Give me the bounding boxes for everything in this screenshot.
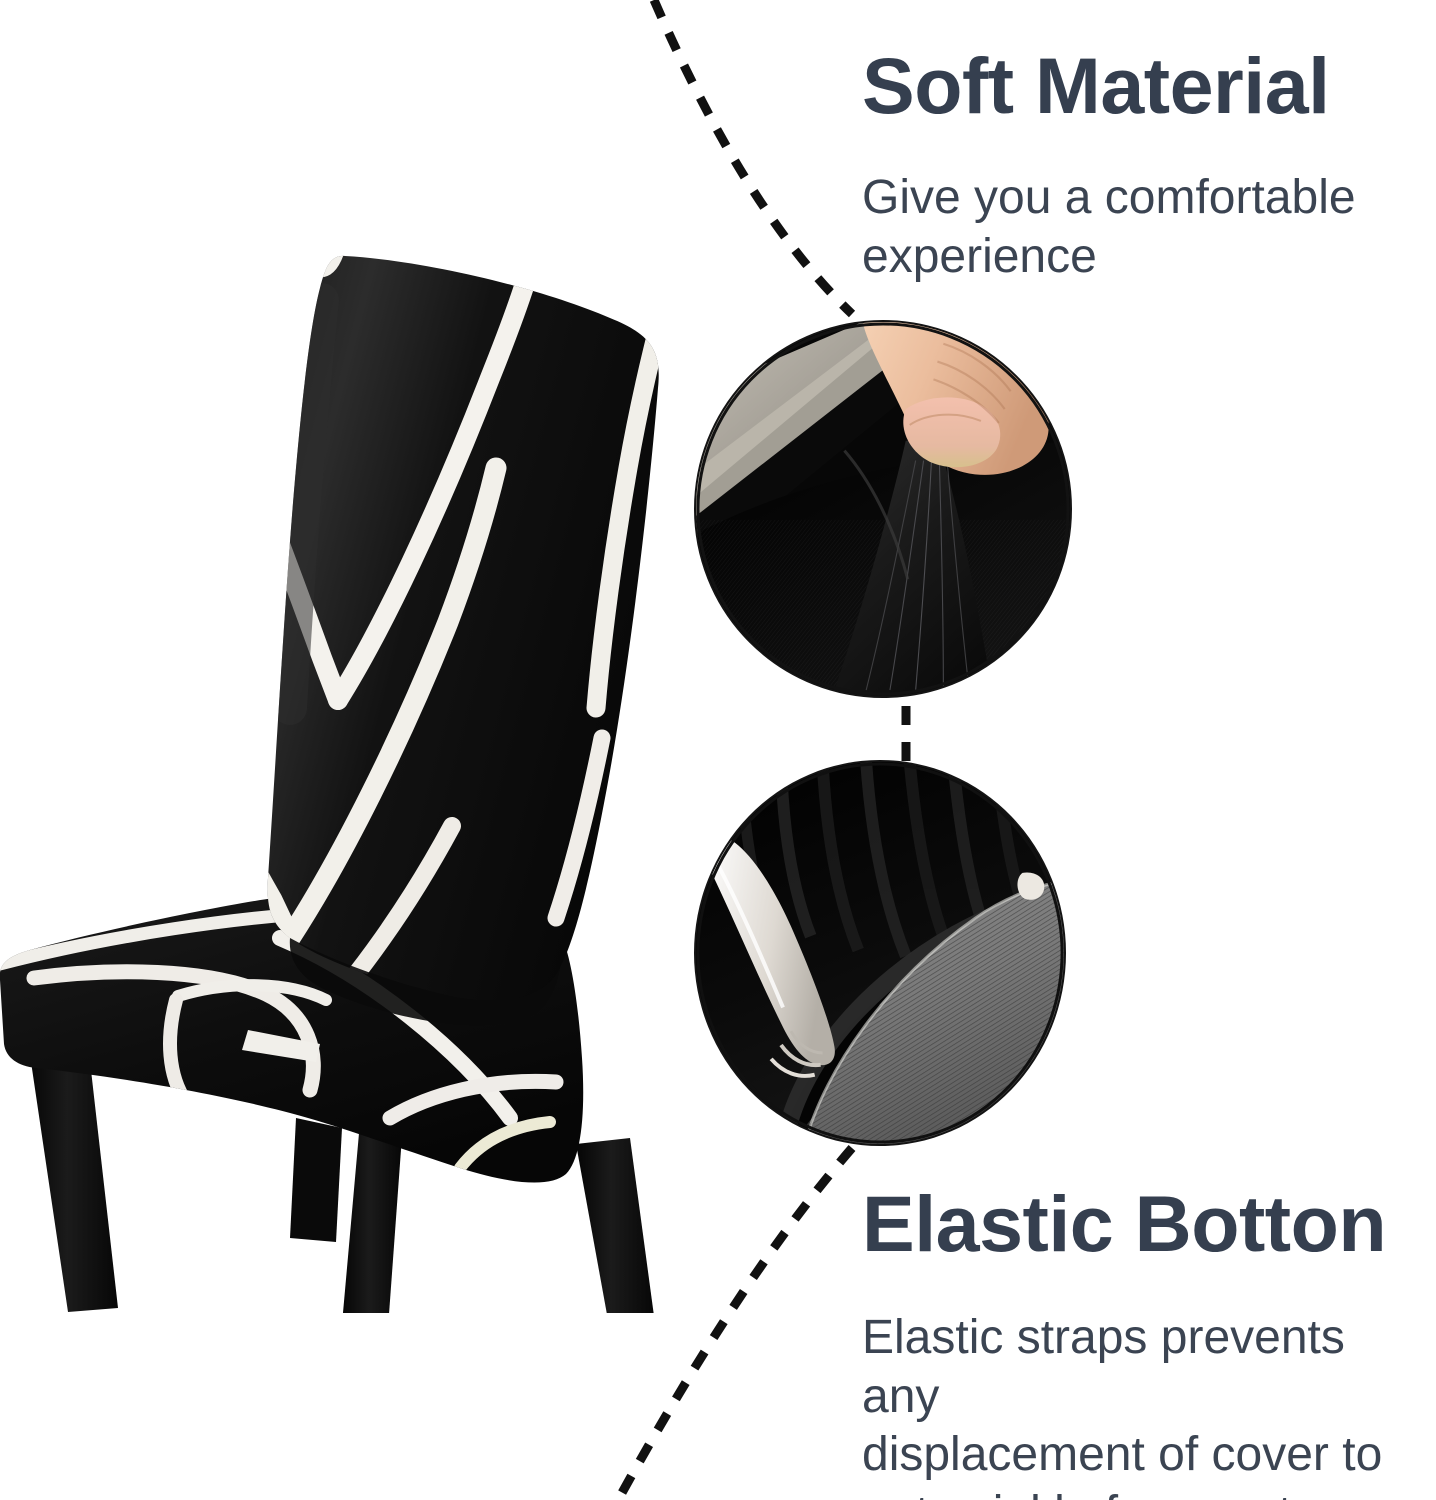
soft-material-title: Soft Material	[862, 46, 1422, 125]
dashed-curve-icon	[654, 0, 852, 314]
dashed-curve-icon	[618, 1148, 852, 1500]
elastic-bottom-description: Elastic straps prevents any displacement…	[862, 1309, 1432, 1500]
elastic-bottom-inset-photo	[694, 760, 1066, 1146]
soft-material-text-block: Soft Material Give you a comfortable exp…	[862, 46, 1422, 286]
soft-material-description-line-1: Give you a comfortable	[862, 171, 1356, 224]
product-infographic: Soft Material Give you a comfortable exp…	[0, 0, 1436, 1500]
elastic-bottom-description-line-2: displacement of cover to	[862, 1428, 1382, 1481]
elastic-bottom-description-line-3: get wrinkle free seat	[862, 1487, 1292, 1500]
soft-material-description: Give you a comfortable experience	[862, 169, 1422, 286]
elastic-bottom-text-block: Elastic Botton Elastic straps prevents a…	[862, 1184, 1432, 1500]
soft-material-description-line-2: experience	[862, 230, 1097, 283]
soft-material-inset-photo	[694, 320, 1072, 698]
elastic-bottom-title: Elastic Botton	[862, 1184, 1432, 1263]
elastic-bottom-description-line-1: Elastic straps prevents any	[862, 1311, 1345, 1423]
